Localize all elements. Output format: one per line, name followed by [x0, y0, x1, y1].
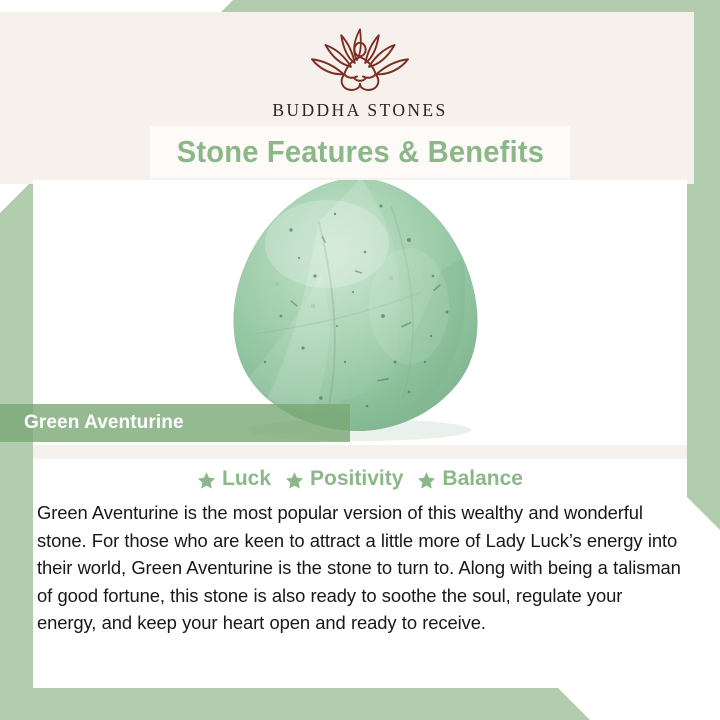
infographic-page: BUDDHA STONES Stone Features & Benefits: [0, 0, 720, 720]
stone-name-bar: Green Aventurine: [0, 404, 350, 442]
benefit-item-positivity: Positivity: [285, 467, 403, 491]
star-icon: [417, 471, 436, 490]
star-icon: [285, 471, 304, 490]
benefits-row: Luck Positivity Balance: [33, 467, 687, 491]
star-icon: [197, 471, 216, 490]
stone-name: Green Aventurine: [24, 412, 184, 434]
benefit-item-balance: Balance: [417, 467, 523, 491]
brand-name: BUDDHA STONES: [272, 100, 447, 121]
page-title: Stone Features & Benefits: [176, 134, 543, 170]
stone-description: Green Aventurine is the most popular ver…: [35, 499, 685, 637]
benefit-item-luck: Luck: [197, 467, 271, 491]
lotus-meditation-icon: [300, 24, 420, 96]
divider-strip: [33, 445, 687, 459]
title-banner: Stone Features & Benefits: [150, 126, 570, 178]
benefit-label: Positivity: [310, 467, 403, 491]
frame-bottom-band: [0, 688, 590, 720]
brand-logo: BUDDHA STONES: [0, 24, 720, 121]
benefit-label: Luck: [222, 467, 271, 491]
benefit-label: Balance: [442, 467, 523, 491]
content-section: Luck Positivity Balance Green: [33, 459, 687, 688]
